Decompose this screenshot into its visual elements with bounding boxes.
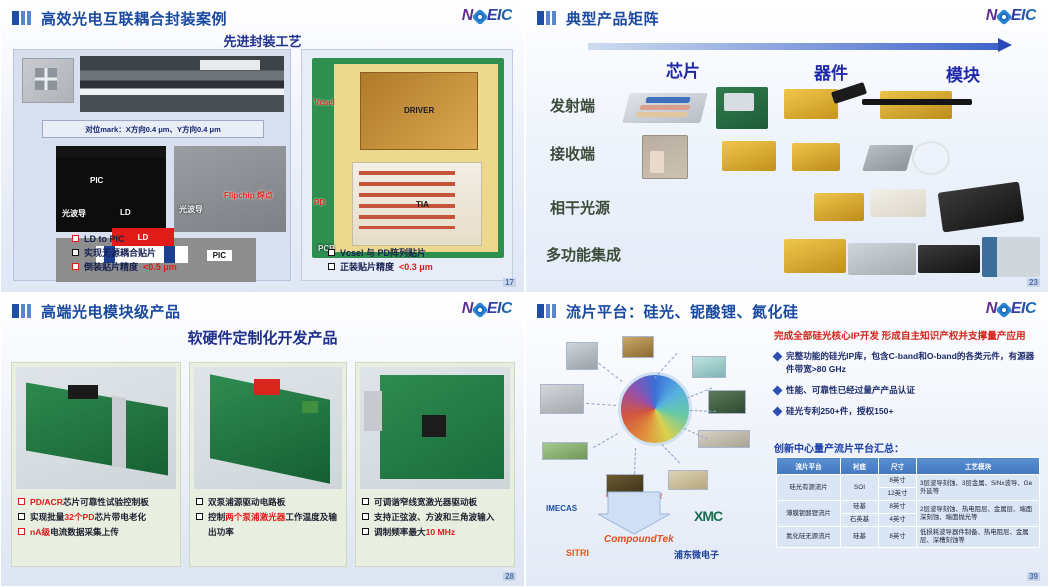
row-label-transmitter: 发射端 bbox=[550, 95, 595, 116]
card-dual-pump-bullets: 双泵浦源驱动电路板 控制两个泵浦激光器工作温度及输出功率 bbox=[196, 495, 342, 540]
diagram-node-detector bbox=[668, 470, 708, 490]
slide-39-header: 流片平台：硅光、铌酸锂、氮化硅 bbox=[526, 294, 1048, 328]
diamond-bullet-icon bbox=[773, 386, 783, 396]
diagram-node-splitter bbox=[566, 342, 598, 370]
down-arrow-icon bbox=[598, 490, 670, 536]
bullet-square-icon bbox=[362, 528, 369, 535]
waveguide-sem-photo bbox=[80, 56, 284, 112]
noeic-logo: NEIC bbox=[986, 7, 1036, 25]
pcb-ic bbox=[422, 415, 446, 437]
diamond-bullet-icon bbox=[773, 352, 783, 362]
bullet-square-icon bbox=[362, 513, 369, 520]
product-photo-coherent-gold bbox=[814, 193, 864, 221]
bullet-text: 双泵浦源驱动电路板 bbox=[208, 495, 285, 510]
cell-platform-1: 硅光有源流片 bbox=[777, 475, 841, 501]
product-photo-gold-tx bbox=[784, 89, 838, 119]
bullet-text: 正装贴片精度 bbox=[340, 260, 394, 274]
diagram-spoke bbox=[598, 363, 622, 382]
bullet-text: Vcsel 与 PD阵列贴片 bbox=[340, 246, 426, 260]
logo-post: EIC bbox=[487, 7, 512, 25]
pcb-photo: Vcsel PD DRIVER TIA PCB bbox=[312, 58, 504, 258]
card-pdacr-bullets: PD/ACR芯片可靠性试验控制板 实现批量32个PD芯片带电老化 nA级电流数据… bbox=[18, 495, 176, 540]
pcb-bracket bbox=[112, 396, 126, 468]
table-header-row: 流片平台 衬底 尺寸 工艺模块 bbox=[777, 458, 1040, 475]
list-item: LD to PIC bbox=[72, 232, 290, 246]
packaging-left-panel: 对位mark：X方向0.4 μm、Y方向0.4 μm PIC 光波导 LD 光波… bbox=[13, 49, 291, 281]
bullet-text-red: 两个泵浦激光器 bbox=[225, 512, 285, 522]
product-photo-gold-rx1 bbox=[722, 141, 776, 171]
slide-39: 流片平台：硅光、铌酸锂、氮化硅 NEIC IMECAS SITRI Compou… bbox=[525, 293, 1049, 587]
packaging-right-panel: Vcsel PD DRIVER TIA PCB Vcsel 与 PD阵列贴片 正… bbox=[301, 49, 513, 281]
product-photo-multi-grey bbox=[848, 243, 916, 275]
pcb-connector bbox=[68, 385, 98, 399]
bullet-text: 调制频率最大 bbox=[374, 527, 426, 537]
bullet-text-red: 32个PD bbox=[64, 512, 94, 522]
cell-substrate-1: SOI bbox=[841, 475, 879, 501]
row-label-coherent-source: 相干光源 bbox=[550, 197, 610, 218]
label-pic: PIC bbox=[90, 176, 103, 185]
bullet-text: 可调谐窄线宽激光器驱动板 bbox=[374, 495, 477, 510]
th-size: 尺寸 bbox=[879, 458, 917, 475]
diagram-spoke bbox=[690, 410, 716, 412]
product-photo-chip-rx-pad bbox=[650, 151, 664, 173]
header-bars-icon bbox=[537, 11, 556, 25]
slide-28-title: 高端光电模块级产品 bbox=[41, 301, 181, 322]
product-photo-chip-rx bbox=[642, 135, 688, 179]
bullet-text: 倒装贴片精度 bbox=[84, 260, 138, 274]
logo-pudong-micro: 浦东微电子 bbox=[674, 548, 719, 561]
progression-arrow-icon bbox=[588, 41, 1012, 51]
bullet-text: 控制 bbox=[208, 512, 225, 522]
list-item: 倒装贴片精度<0.5 μm bbox=[72, 260, 290, 274]
cell-platform-3: 氮化硅无源流片 bbox=[777, 527, 841, 548]
slide-28: 高端光电模块级产品 NEIC 软硬件定制化开发产品 PD/ACR芯片可靠性试验控… bbox=[0, 293, 525, 587]
bullet-square-icon bbox=[18, 513, 25, 520]
diagram-node-grating-coupler bbox=[622, 336, 654, 358]
bullet-text: 硅光专利250+件，授权150+ bbox=[786, 405, 893, 418]
table-row: 硅光有源流片 SOI 8英寸 3层波导刻蚀、3层金属、SiNx波导、Ge外延等 bbox=[777, 475, 1040, 488]
bullet-text-red: 10 MHz bbox=[426, 527, 456, 537]
pcb-green-part bbox=[302, 401, 318, 413]
cell-modules-2: 2层波导刻蚀、热电阻层、金属层、端面深刻蚀、端面抛光等 bbox=[917, 501, 1040, 527]
slide-23-title: 典型产品矩阵 bbox=[566, 8, 659, 29]
list-item: 调制频率最大10 MHz bbox=[362, 525, 510, 540]
alignment-mark-photo bbox=[22, 58, 74, 103]
logo-xmc: XMC bbox=[694, 508, 722, 524]
bullet-highlight: <0.5 μm bbox=[143, 260, 177, 274]
product-photo-chip-tx-stripe2 bbox=[639, 105, 690, 110]
product-photo-module-rx bbox=[862, 145, 913, 171]
logo-flower-icon bbox=[471, 9, 488, 26]
diagram-node-polarization-splitter bbox=[540, 384, 584, 414]
noeic-logo: NEIC bbox=[986, 300, 1036, 318]
page-number: 17 bbox=[503, 278, 516, 287]
card-tunable-laser-bullets: 可调谐窄线宽激光器驱动板 支持正弦波、方波和三角波输入 调制频率最大10 MHz bbox=[362, 495, 510, 540]
cell-size-2a: 8英寸 bbox=[879, 501, 917, 514]
card-tunable-laser-photo bbox=[360, 367, 510, 489]
bullet-text: 实现无源耦合贴片 bbox=[84, 246, 156, 260]
row-label-receiver: 接收端 bbox=[550, 143, 595, 164]
label-waveguide-1: 光波导 bbox=[62, 208, 86, 219]
bullet-text: 性能、可靠性已经过量产产品认证 bbox=[786, 384, 915, 397]
product-photo-coherent-white bbox=[870, 189, 926, 217]
card-dual-pump: 双泵浦源驱动电路板 控制两个泵浦激光器工作温度及输出功率 bbox=[189, 362, 347, 567]
right-panel-bullets: Vcsel 与 PD阵列贴片 正装贴片精度<0.3 μm bbox=[302, 246, 512, 274]
list-item: 实现批量32个PD芯片带电老化 bbox=[18, 510, 176, 525]
slide-28-center-title: 软硬件定制化开发产品 bbox=[1, 327, 524, 348]
cell-size-2b: 4英寸 bbox=[879, 514, 917, 527]
pcb-dsub bbox=[364, 391, 382, 431]
logo-pre: N bbox=[462, 7, 473, 25]
product-photo-coherent-black bbox=[938, 181, 1025, 232]
table-row: 氮化硅无源流片 硅基 8英寸 低损耗波导器件制备、热电阻层、金属层、深槽刻蚀等 bbox=[777, 527, 1040, 548]
logo-pre: N bbox=[462, 300, 473, 318]
diagram-node-switch bbox=[542, 442, 588, 460]
slide-17-title: 高效光电互联耦合封装案例 bbox=[41, 8, 227, 29]
list-item: Vcsel 与 PD阵列贴片 bbox=[328, 246, 512, 260]
bullet-square-icon bbox=[18, 528, 25, 535]
bullet-text-red: PD/ACR bbox=[30, 497, 63, 507]
slide-grid: 高效光电互联耦合封装案例 NEIC 先进封装工艺 对位mark：X方向0.4 μ… bbox=[0, 0, 1049, 587]
noeic-logo: NEIC bbox=[462, 300, 512, 318]
header-bars-icon bbox=[12, 11, 31, 25]
alignment-mark-note: 对位mark：X方向0.4 μm、Y方向0.4 μm bbox=[42, 120, 264, 138]
bullet-square-icon bbox=[196, 513, 203, 520]
bullet-square-icon bbox=[18, 498, 25, 505]
bullet-square-icon bbox=[328, 263, 335, 270]
list-item: 双泵浦源驱动电路板 bbox=[196, 495, 342, 510]
bullet-text: 支持正弦波、方波和三角波输入 bbox=[374, 510, 494, 525]
slide-17-header: 高效光电互联耦合封装案例 bbox=[1, 1, 524, 35]
logo-imecas: IMECAS bbox=[546, 504, 577, 513]
list-item: 完整功能的硅光IP库，包含C-band和O-band的各类元件，有源器件带宽>8… bbox=[774, 350, 1042, 376]
diagram-spoke bbox=[593, 433, 618, 448]
column-header-chip: 芯片 bbox=[666, 57, 700, 82]
bullet-text: 实现批量 bbox=[30, 512, 64, 522]
table-caption: 创新中心量产流片平台汇总： bbox=[774, 440, 904, 455]
list-item: PD/ACR芯片可靠性试验控制板 bbox=[18, 495, 176, 510]
label-vcsel: Vcsel bbox=[314, 98, 335, 107]
card-pdacr: PD/ACR芯片可靠性试验控制板 实现批量32个PD芯片带电老化 nA级电流数据… bbox=[11, 362, 181, 567]
bullet-text: LD to PIC bbox=[84, 232, 125, 246]
cell-size-1a: 8英寸 bbox=[879, 475, 917, 488]
cell-modules-1: 3层波导刻蚀、3层金属、SiNx波导、Ge外延等 bbox=[917, 475, 1040, 501]
slide-39-bullets: 完整功能的硅光IP库，包含C-band和O-band的各类元件，有源器件带宽>8… bbox=[774, 350, 1042, 426]
card-tunable-laser: 可调谐窄线宽激光器驱动板 支持正弦波、方波和三角波输入 调制频率最大10 MHz bbox=[355, 362, 515, 567]
th-modules: 工艺模块 bbox=[917, 458, 1040, 475]
logo-post: EIC bbox=[487, 300, 512, 318]
flipchip-photo: 光波导 Flipchip 焊点 bbox=[174, 146, 286, 232]
noeic-logo: NEIC bbox=[462, 7, 512, 25]
cell-platform-2: 薄膜铌酸锂流片 bbox=[777, 501, 841, 527]
cell-modules-3: 低损耗波导器件制备、热电阻层、金属层、深槽刻蚀等 bbox=[917, 527, 1040, 548]
slide-39-red-headline: 完成全部硅光核心IP开发 形成自主知识产权并支撑量产应用 bbox=[774, 330, 1040, 344]
list-item: 支持正弦波、方波和三角波输入 bbox=[362, 510, 510, 525]
product-photo-multi-gold bbox=[784, 239, 846, 273]
logo-sitri: SITRI bbox=[566, 548, 589, 558]
product-photo-gold-rx2 bbox=[792, 143, 840, 171]
product-photo-multi-rack bbox=[982, 237, 1040, 277]
diamond-bullet-icon bbox=[773, 407, 783, 417]
diagram-node-edge-coupler bbox=[692, 356, 726, 378]
diagram-spoke bbox=[586, 403, 616, 406]
th-substrate: 衬底 bbox=[841, 458, 879, 475]
bullet-square-icon bbox=[72, 263, 79, 270]
logo-post: EIC bbox=[1011, 7, 1036, 25]
label-waveguide-2: 光波导 bbox=[179, 204, 203, 215]
list-item: 性能、可靠性已经过量产产品认证 bbox=[774, 384, 1042, 397]
page-number: 39 bbox=[1027, 572, 1040, 581]
page-number: 23 bbox=[1027, 278, 1040, 287]
cell-substrate-2b: 石英基 bbox=[841, 514, 879, 527]
product-photo-chip-tx-stripe3 bbox=[635, 112, 688, 117]
slide-17: 高效光电互联耦合封装案例 NEIC 先进封装工艺 对位mark：X方向0.4 μ… bbox=[0, 0, 525, 293]
card-dual-pump-photo bbox=[194, 367, 342, 489]
slide-17-center-title: 先进封装工艺 bbox=[1, 31, 524, 50]
bullet-text: 电流数据采集上传 bbox=[50, 527, 119, 537]
page-number: 28 bbox=[503, 572, 516, 581]
card-pdacr-photo bbox=[16, 367, 176, 489]
logo-flower-icon bbox=[995, 302, 1012, 319]
bullet-square-icon bbox=[72, 249, 79, 256]
bullet-square-icon bbox=[362, 498, 369, 505]
bullet-text: 完整功能的硅光IP库，包含C-band和O-band的各类元件，有源器件带宽>8… bbox=[786, 350, 1042, 376]
cell-substrate-3: 硅基 bbox=[841, 527, 879, 548]
logo-flower-icon bbox=[471, 302, 488, 319]
slide-23-header: 典型产品矩阵 bbox=[526, 1, 1048, 35]
product-photo-module-tx bbox=[880, 91, 952, 119]
cell-size-3: 8英寸 bbox=[879, 527, 917, 548]
table-row: 薄膜铌酸锂流片 硅基 8英寸 2层波导刻蚀、热电阻层、金属层、端面深刻蚀、端面抛… bbox=[777, 501, 1040, 514]
bullet-text: 芯片带电老化 bbox=[94, 512, 146, 522]
list-item: 硅光专利250+件，授权150+ bbox=[774, 405, 1042, 418]
list-item: 控制两个泵浦激光器工作温度及输出功率 bbox=[196, 510, 342, 540]
label-pd: PD bbox=[314, 198, 325, 207]
label-ld: LD bbox=[120, 208, 131, 217]
header-bars-icon bbox=[537, 304, 556, 318]
bullet-text: 芯片可靠性试验控制板 bbox=[63, 497, 149, 507]
partner-logos: IMECAS SITRI CompoundTek XMC 浦东微电子 与CMOS… bbox=[546, 490, 776, 576]
cell-size-1b: 12英寸 bbox=[879, 488, 917, 501]
bullet-square-icon bbox=[196, 498, 203, 505]
bullet-square-icon bbox=[72, 235, 79, 242]
slide-39-title: 流片平台：硅光、铌酸锂、氮化硅 bbox=[566, 301, 799, 322]
logo-flower-icon bbox=[995, 9, 1012, 26]
arrow-line bbox=[588, 43, 1000, 50]
product-photo-module-tx-fiber bbox=[862, 99, 972, 105]
foundry-platform-table: 流片平台 衬底 尺寸 工艺模块 硅光有源流片 SOI 8英寸 3层波导刻蚀、3层… bbox=[776, 457, 1040, 548]
header-bars-icon bbox=[12, 304, 31, 318]
product-photo-fiber-loop bbox=[912, 141, 950, 175]
left-panel-bullets: LD to PIC 实现无源耦合贴片 倒装贴片精度<0.5 μm bbox=[14, 232, 290, 274]
label-tia: TIA bbox=[416, 200, 429, 209]
th-platform: 流片平台 bbox=[777, 458, 841, 475]
silicon-photonics-wafer-hub bbox=[618, 372, 692, 446]
list-item: 可调谐窄线宽激光器驱动板 bbox=[362, 495, 510, 510]
bullet-highlight: <0.3 μm bbox=[399, 260, 433, 274]
product-photo-board-tx-chip bbox=[724, 93, 754, 111]
logo-post: EIC bbox=[1011, 300, 1036, 318]
label-flipchip: Flipchip 焊点 bbox=[224, 192, 276, 200]
slide-23: 典型产品矩阵 NEIC 芯片 器件 模块 发射端 接收端 相干光源 多功能集成 bbox=[525, 0, 1049, 293]
list-item: 正装贴片精度<0.3 μm bbox=[328, 260, 512, 274]
row-label-multifunction: 多功能集成 bbox=[546, 244, 621, 265]
arrow-head bbox=[998, 38, 1012, 52]
logo-pre: N bbox=[986, 7, 997, 25]
pic-ld-photo: PIC 光波导 LD bbox=[56, 146, 166, 232]
pcb-red-part bbox=[254, 379, 280, 395]
list-item: 实现无源耦合贴片 bbox=[72, 246, 290, 260]
diagram-spoke bbox=[661, 444, 680, 463]
cell-substrate-2a: 硅基 bbox=[841, 501, 879, 514]
diagram-spoke bbox=[634, 448, 636, 474]
column-header-module: 模块 bbox=[946, 61, 980, 86]
slide-28-header: 高端光电模块级产品 bbox=[1, 294, 524, 328]
product-photo-multi-black bbox=[918, 245, 980, 273]
label-driver: DRIVER bbox=[404, 106, 434, 115]
bullet-text-red: nA级 bbox=[30, 527, 50, 537]
column-header-device: 器件 bbox=[814, 59, 848, 84]
list-item: nA级电流数据采集上传 bbox=[18, 525, 176, 540]
bullet-square-icon bbox=[328, 249, 335, 256]
product-photo-chip-tx-stripe1 bbox=[645, 97, 690, 103]
logo-pre: N bbox=[986, 300, 997, 318]
